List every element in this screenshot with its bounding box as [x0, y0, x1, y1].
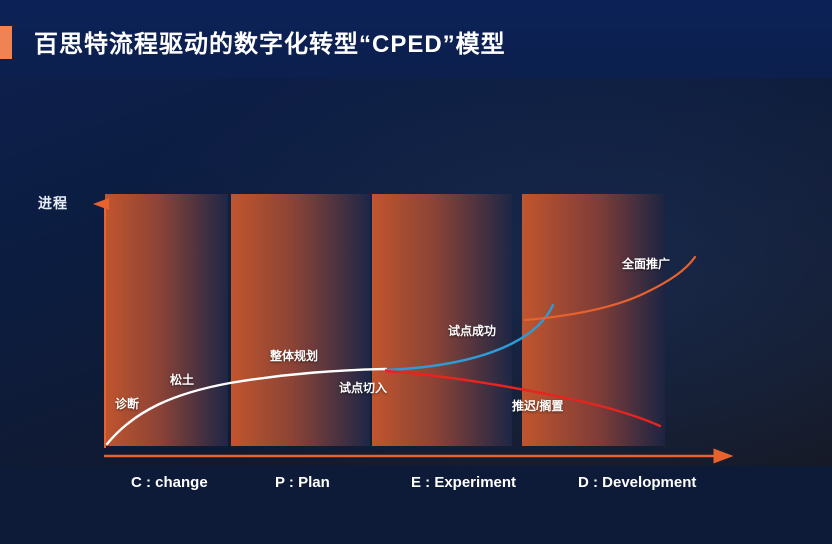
curve-label-overall-planning: 整体规划 — [270, 347, 318, 364]
curve-label-soil-loosening: 松土 — [170, 371, 194, 388]
stage-label-experiment: E : Experiment — [411, 474, 516, 491]
title-accent-bar — [0, 26, 12, 59]
slide-header: 百思特流程驱动的数字化转型“CPED”模型 — [0, 0, 832, 78]
curve-label-diagnosis: 诊断 — [115, 395, 139, 412]
curve-label-full-rollout: 全面推广 — [622, 255, 670, 272]
stage-label-development: D : Development — [578, 474, 696, 491]
slide-canvas: 百思特流程驱动的数字化转型“CPED”模型 进程 — [0, 0, 832, 466]
curve-label-pilot-success: 试点成功 — [448, 322, 496, 339]
stage-panel-plan — [231, 194, 370, 446]
stage-panel-experiment — [372, 194, 512, 446]
curve-label-pilot-entry: 试点切入 — [339, 379, 387, 396]
cped-model-chart: 进程 — [0, 78, 832, 466]
page-title: 百思特流程驱动的数字化转型“CPED”模型 — [34, 24, 506, 59]
curve-label-postpone-shelve: 推迟/搁置 — [512, 397, 563, 414]
stage-label-row: C : change P : Plan E : Experiment D : D… — [0, 474, 832, 504]
stage-label-plan: P : Plan — [275, 474, 330, 491]
stage-label-change: C : change — [131, 474, 208, 491]
